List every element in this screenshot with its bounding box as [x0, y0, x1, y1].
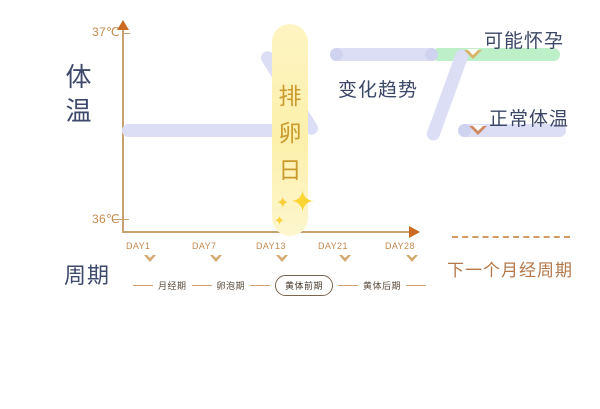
trend-node-peak-left — [330, 48, 343, 61]
day-marker-5 — [406, 255, 418, 262]
sparkle-medium-icon: ✦ — [276, 196, 289, 212]
day-marker-3 — [276, 255, 288, 262]
chart-canvas: 37℃ 36℃ 体 温 周期 排 卵 日 ✦ ✦ ✦ 变化趋势 可能怀孕 正常体… — [0, 0, 600, 409]
day-marker-4 — [339, 255, 351, 262]
ovulation-label-char-1: 排 — [272, 78, 308, 115]
ovulation-day-label: 排 卵 日 — [272, 78, 308, 189]
pointer-down-icon-normal — [469, 126, 487, 135]
trend-segment-plateau — [330, 48, 438, 61]
day-marker-1 — [144, 255, 156, 262]
ovulation-label-char-2: 卵 — [272, 115, 308, 152]
phase-item-1[interactable]: 月经期 — [158, 279, 187, 292]
y-axis-title: 体 温 — [62, 60, 96, 128]
day-label-3: DAY13 — [256, 241, 286, 251]
phase-item-4[interactable]: 黄体后期 — [363, 279, 401, 292]
y-axis-min-label: 36℃ — [92, 212, 120, 226]
day-marker-2 — [210, 255, 222, 262]
x-axis-arrow-icon — [409, 226, 420, 238]
next-cycle-dashed-line — [452, 236, 570, 238]
ovulation-label-char-3: 日 — [272, 152, 308, 189]
trend-node-peak-right — [425, 48, 438, 61]
day-label-1: DAY1 — [126, 241, 150, 251]
sparkle-small-icon: ✦ — [274, 214, 285, 227]
phase-item-3[interactable]: 黄体前期 — [275, 276, 333, 295]
pointer-down-icon-pregnancy — [464, 50, 482, 59]
y-axis-title-char-1: 体 — [62, 60, 96, 94]
y-axis-title-char-2: 温 — [62, 94, 96, 128]
phase-divider-0 — [133, 285, 153, 286]
phase-divider-2 — [250, 285, 270, 286]
day-label-4: DAY21 — [318, 241, 348, 251]
day-label-5: DAY28 — [385, 241, 415, 251]
annotation-trend: 变化趋势 — [338, 75, 418, 102]
day-label-2: DAY7 — [192, 241, 216, 251]
annotation-normal-temperature: 正常体温 — [489, 104, 569, 131]
y-tick-max — [122, 33, 130, 34]
x-axis-line — [122, 231, 412, 233]
y-axis-max-label: 37℃ — [92, 25, 120, 39]
annotation-possible-pregnancy: 可能怀孕 — [484, 26, 564, 53]
x-axis-title: 周期 — [56, 262, 118, 290]
phase-divider-3 — [338, 285, 358, 286]
sparkle-large-icon: ✦ — [290, 188, 315, 218]
next-cycle-label: 下一个月经周期 — [447, 256, 573, 281]
phase-item-2[interactable]: 卵泡期 — [217, 279, 246, 292]
phase-divider-1 — [192, 285, 212, 286]
phase-divider-end — [406, 285, 426, 286]
phase-legend: 月经期卵泡期黄体前期黄体后期 — [128, 274, 428, 296]
